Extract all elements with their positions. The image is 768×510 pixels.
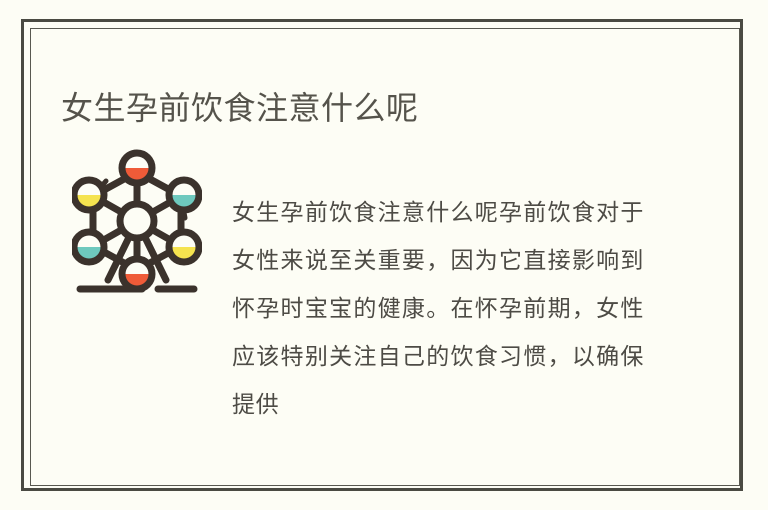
card-content: 女生孕前饮食注意什么呢 (0, 0, 768, 510)
article-card: 女生孕前饮食注意什么呢 (0, 0, 768, 510)
cabin-top (122, 153, 152, 183)
page-title: 女生孕前饮食注意什么呢 (61, 87, 419, 129)
cabin-lower-left (74, 232, 104, 262)
cabin-bottom (122, 259, 152, 289)
wheel-hub (120, 204, 154, 238)
cabin-upper-left (74, 180, 104, 210)
ferris-wheel-illustration (72, 148, 202, 294)
cabin-upper-right (169, 180, 199, 210)
article-body: 女生孕前饮食注意什么呢孕前饮食对于女性来说至关重要，因为它直接影响到怀孕时宝宝的… (232, 189, 644, 429)
cabin-lower-right (169, 232, 199, 262)
ferris-wheel-icon (72, 148, 202, 294)
